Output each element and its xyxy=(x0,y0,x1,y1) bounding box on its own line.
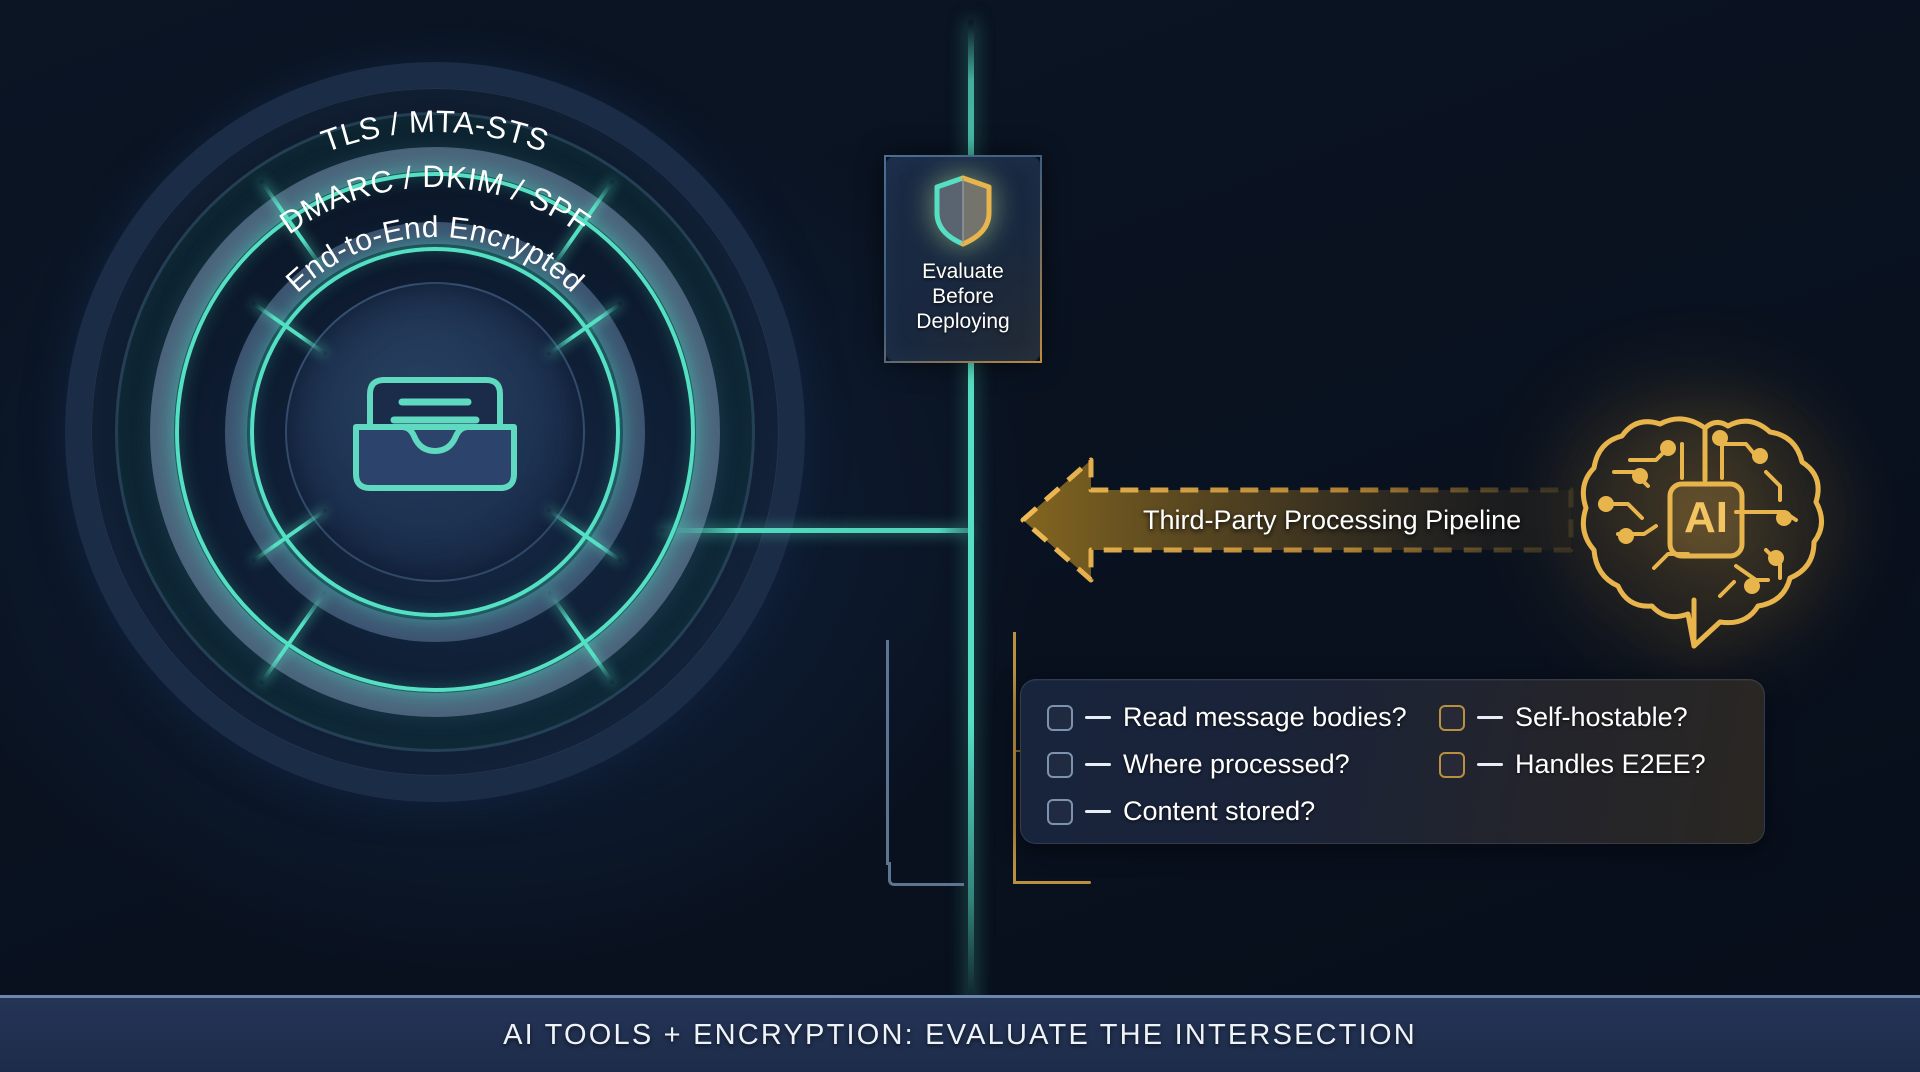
third-party-pipeline-arrow: Third-Party Processing Pipeline xyxy=(1015,450,1575,590)
teal-connector-beam xyxy=(660,528,970,533)
checklist-item-label: Content stored? xyxy=(1123,796,1315,827)
shield-caption-line-3: Deploying xyxy=(916,309,1009,334)
checkbox[interactable] xyxy=(1439,705,1465,731)
checklist-item-label: Read message bodies? xyxy=(1123,702,1407,733)
ring-spoke xyxy=(547,591,615,685)
dash-icon xyxy=(1477,763,1503,766)
checkbox[interactable] xyxy=(1439,752,1465,778)
arrow-label: Third-Party Processing Pipeline xyxy=(1143,450,1563,590)
footer-banner: AI TOOLS + ENCRYPTION: EVALUATE THE INTE… xyxy=(0,995,1920,1072)
footer-caption: AI TOOLS + ENCRYPTION: EVALUATE THE INTE… xyxy=(503,1019,1417,1052)
checklist-item-label: Where processed? xyxy=(1123,749,1350,780)
dash-icon xyxy=(1085,763,1111,766)
ring-spoke xyxy=(546,508,622,563)
shield-card-caption: Evaluate Before Deploying xyxy=(916,259,1009,334)
ring-spoke xyxy=(252,508,328,563)
checkbox[interactable] xyxy=(1047,799,1073,825)
checklist-item[interactable]: Content stored? xyxy=(1047,796,1439,827)
shield-caption-line-1: Evaluate xyxy=(916,259,1009,284)
ring-spoke xyxy=(259,591,327,685)
ai-chip-label: AI xyxy=(1684,493,1728,542)
bracket-left-vertical xyxy=(886,640,889,865)
bracket-left-foot xyxy=(888,862,964,886)
evaluation-checklist-panel: Read message bodies? Where processed? Co… xyxy=(1020,679,1765,844)
checklist-item-label: Self-hostable? xyxy=(1515,702,1688,733)
checklist-item[interactable]: Self-hostable? xyxy=(1439,702,1706,733)
ring-spoke xyxy=(547,179,615,273)
bracket-right-foot xyxy=(1013,881,1091,884)
checklist-item-label: Handles E2EE? xyxy=(1515,749,1706,780)
checklist-item[interactable]: Handles E2EE? xyxy=(1439,749,1706,780)
dash-icon xyxy=(1477,716,1503,719)
bracket-right-vertical xyxy=(1013,632,1016,884)
checklist-column-left: Read message bodies? Where processed? Co… xyxy=(1047,702,1439,843)
dash-icon xyxy=(1085,716,1111,719)
ring-spoke xyxy=(252,301,328,356)
ring-spoke xyxy=(259,179,327,273)
ai-brain-circuit-icon: AI xyxy=(1570,400,1840,655)
shield-caption-line-2: Before xyxy=(916,284,1009,309)
ring-spoke xyxy=(546,301,622,356)
security-rings-diagram: TLS / MTA-STS DMARC / DKIM / SPF End-to-… xyxy=(55,52,815,812)
dash-icon xyxy=(1085,810,1111,813)
infographic-canvas: TLS / MTA-STS DMARC / DKIM / SPF End-to-… xyxy=(0,0,1920,1072)
inbox-tray-icon xyxy=(330,352,540,512)
evaluate-before-deploying-card[interactable]: Evaluate Before Deploying xyxy=(884,155,1042,363)
checkbox[interactable] xyxy=(1047,705,1073,731)
checklist-item[interactable]: Read message bodies? xyxy=(1047,702,1439,733)
split-shield-icon xyxy=(929,173,997,249)
checklist-item[interactable]: Where processed? xyxy=(1047,749,1439,780)
checklist-column-right: Self-hostable? Handles E2EE? xyxy=(1439,702,1706,843)
checkbox[interactable] xyxy=(1047,752,1073,778)
